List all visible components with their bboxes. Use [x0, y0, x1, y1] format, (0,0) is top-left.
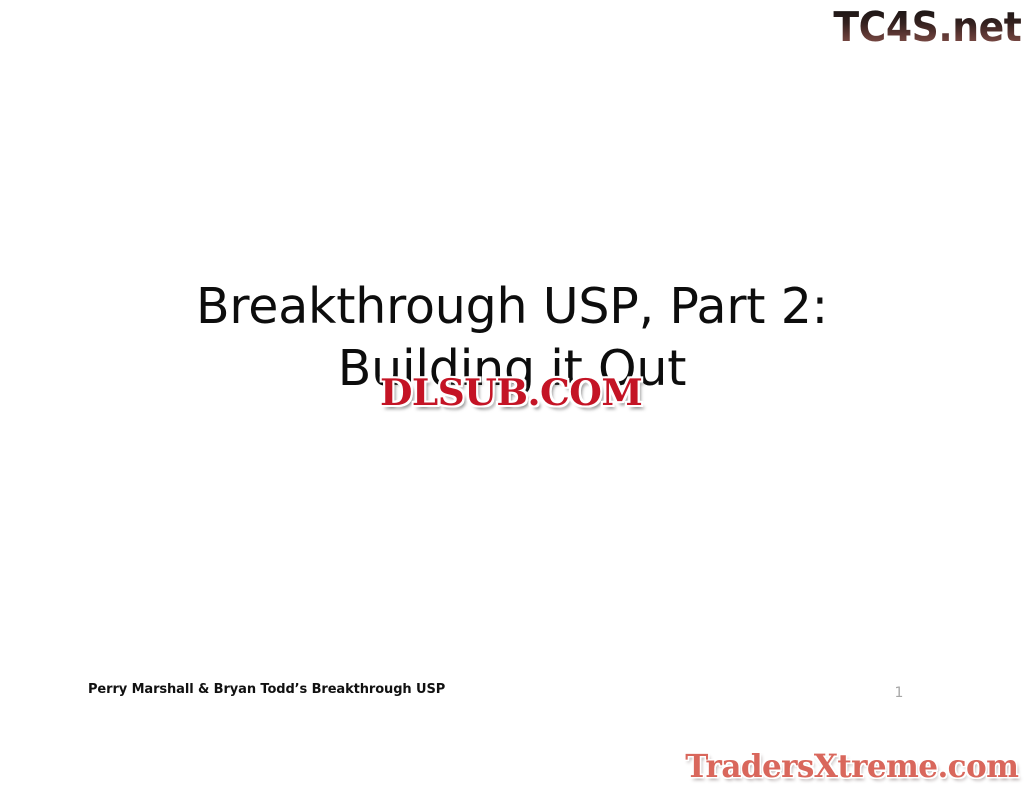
footer-attribution: Perry Marshall & Bryan Todd’s Breakthrou…: [88, 681, 445, 698]
dlsub-com-watermark: DLSUB.COM: [368, 371, 654, 415]
tradersxtreme-com-logo-text: TradersXtreme.com: [685, 747, 1018, 785]
tc4s-net-logo: TC4S.net: [831, 2, 1021, 52]
page-number: 1: [891, 684, 907, 702]
slide-title-line-1: Breakthrough USP, Part 2:: [0, 276, 1024, 338]
dlsub-com-watermark-text: DLSUB.COM: [380, 373, 642, 413]
tc4s-net-logo-text: TC4S.net: [833, 4, 1021, 50]
presentation-slide: TC4S.net Breakthrough USP, Part 2: Build…: [0, 0, 1024, 791]
tradersxtreme-com-logo: TradersXtreme.com: [706, 744, 1018, 788]
